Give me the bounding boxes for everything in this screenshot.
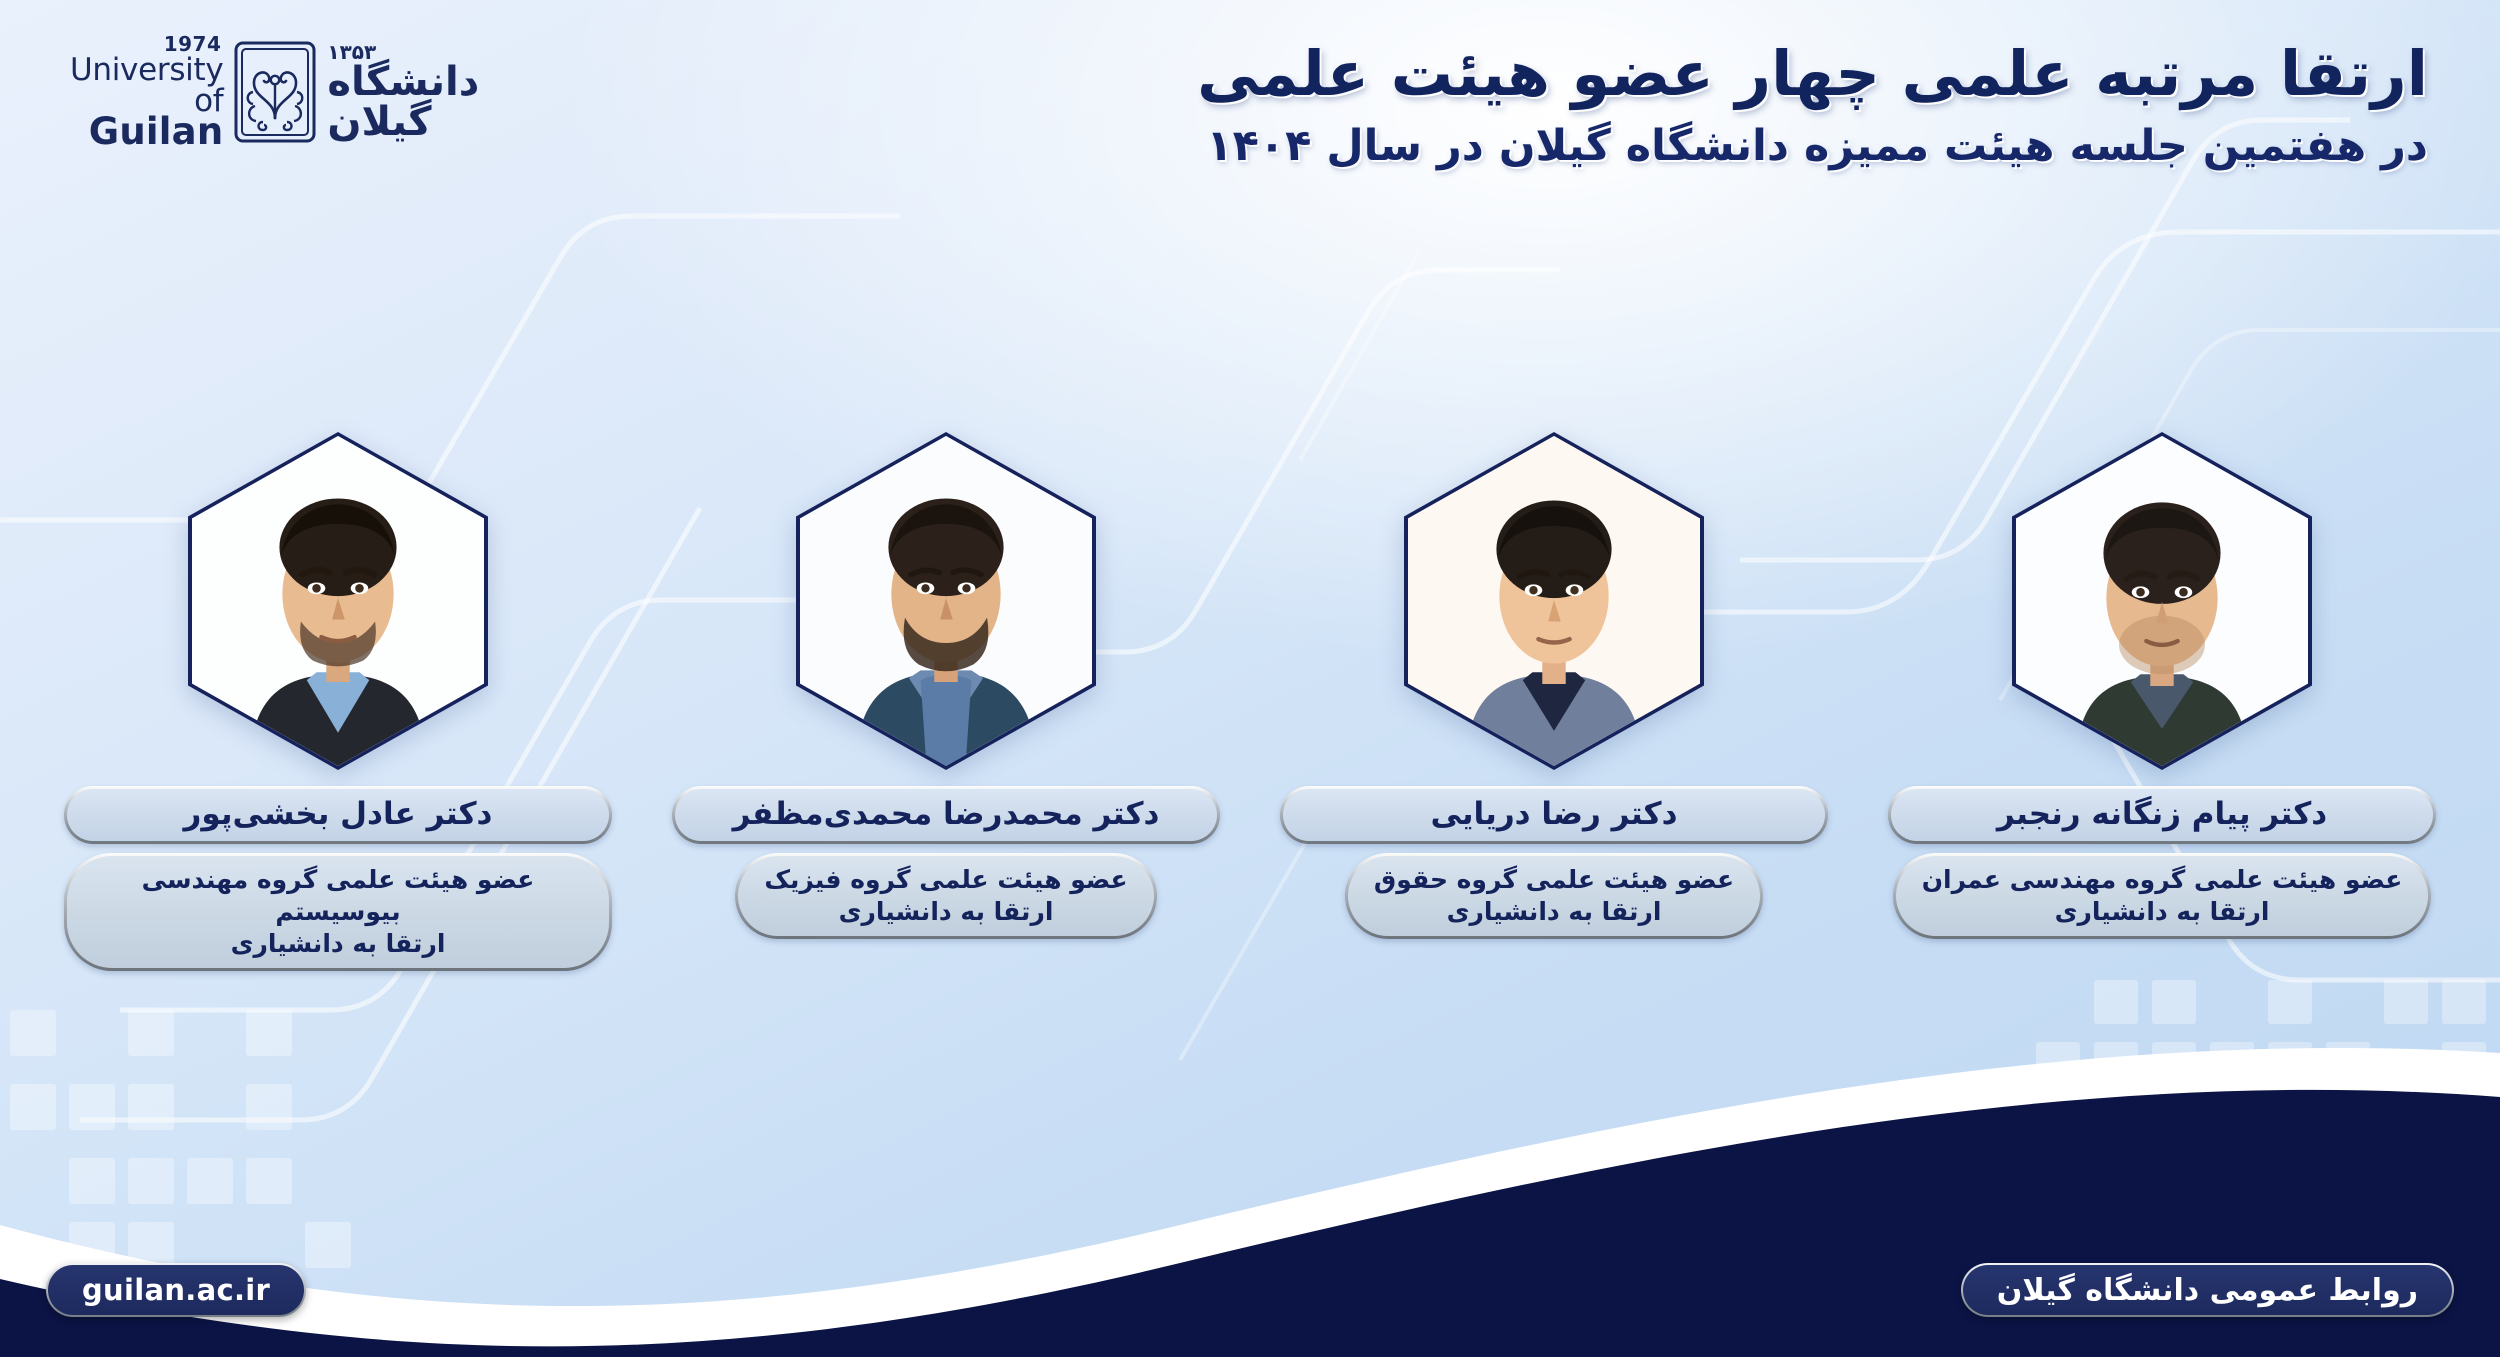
logo-line-guilan: Guilan: [70, 113, 223, 150]
portrait-photo: [800, 436, 1092, 766]
portrait-frame-inner: [2016, 436, 2308, 766]
portrait-photo: [2016, 436, 2308, 766]
portrait-frame-inner: [1408, 436, 1700, 766]
poster-subtitle: در هفتمین جلسه هیئت ممیزه دانشگاه گیلان …: [868, 119, 2428, 175]
logo-english-text: 1974 University of Guilan: [70, 34, 223, 150]
public-relations-badge: روابط عمومی دانشگاه گیلان: [1961, 1263, 2454, 1317]
person-name-badge: دکتر رضا دریایی: [1280, 786, 1828, 844]
person-role-line1: عضو هیئت علمی گروه مهندسی عمران: [1922, 864, 2403, 896]
portrait-frame: [796, 432, 1096, 770]
guilan-university-emblem-icon: [233, 40, 317, 144]
portrait-frame: [188, 432, 488, 770]
portrait-photo: [1408, 436, 1700, 766]
logo-persian-text: ۱۳۵۳ دانشگاه گیلان: [327, 42, 530, 142]
logo-founding-year-en: 1974: [70, 34, 223, 54]
portrait-frame-inner: [800, 436, 1092, 766]
person-name-badge: دکتر پیام زنگانه رنجبر: [1888, 786, 2436, 844]
person-card: دکتر محمدرضا محمدی‌مظفر عضو هیئت علمی گر…: [672, 432, 1220, 971]
header-titles: ارتقا مرتبه علمی چهار عضو هیئت علمی در ه…: [868, 34, 2428, 175]
promotion-poster: 1974 University of Guilan ۱۳۵۳ دانشگاه گ…: [0, 0, 2500, 1357]
university-logo: 1974 University of Guilan ۱۳۵۳ دانشگاه گ…: [70, 22, 530, 162]
person-card: دکتر عادل بخشی‌پور عضو هیئت علمی گروه مه…: [64, 432, 612, 971]
person-role-line1: عضو هیئت علمی گروه حقوق: [1374, 864, 1734, 896]
website-label: guilan.ac.ir: [82, 1273, 270, 1307]
person-card: دکتر رضا دریایی عضو هیئت علمی گروه حقوق …: [1280, 432, 1828, 971]
portrait-frame: [1404, 432, 1704, 770]
logo-name-fa: دانشگاه گیلان: [327, 62, 530, 142]
person-name-badge: دکتر عادل بخشی‌پور: [64, 786, 612, 844]
portrait-frame-inner: [192, 436, 484, 766]
person-card: دکتر پیام زنگانه رنجبر عضو هیئت علمی گرو…: [1888, 432, 2436, 971]
portrait-frame: [2012, 432, 2312, 770]
portrait-photo: [192, 436, 484, 766]
poster-title: ارتقا مرتبه علمی چهار عضو هیئت علمی: [868, 34, 2428, 113]
website-badge[interactable]: guilan.ac.ir: [46, 1263, 306, 1317]
person-name-badge: دکتر محمدرضا محمدی‌مظفر: [672, 786, 1220, 844]
people-row: دکتر پیام زنگانه رنجبر عضو هیئت علمی گرو…: [0, 432, 2500, 971]
logo-line-university-of: University of: [70, 55, 223, 117]
person-role-line1: عضو هیئت علمی گروه فیزیک: [764, 864, 1127, 896]
public-relations-label: روابط عمومی دانشگاه گیلان: [1997, 1273, 2418, 1308]
